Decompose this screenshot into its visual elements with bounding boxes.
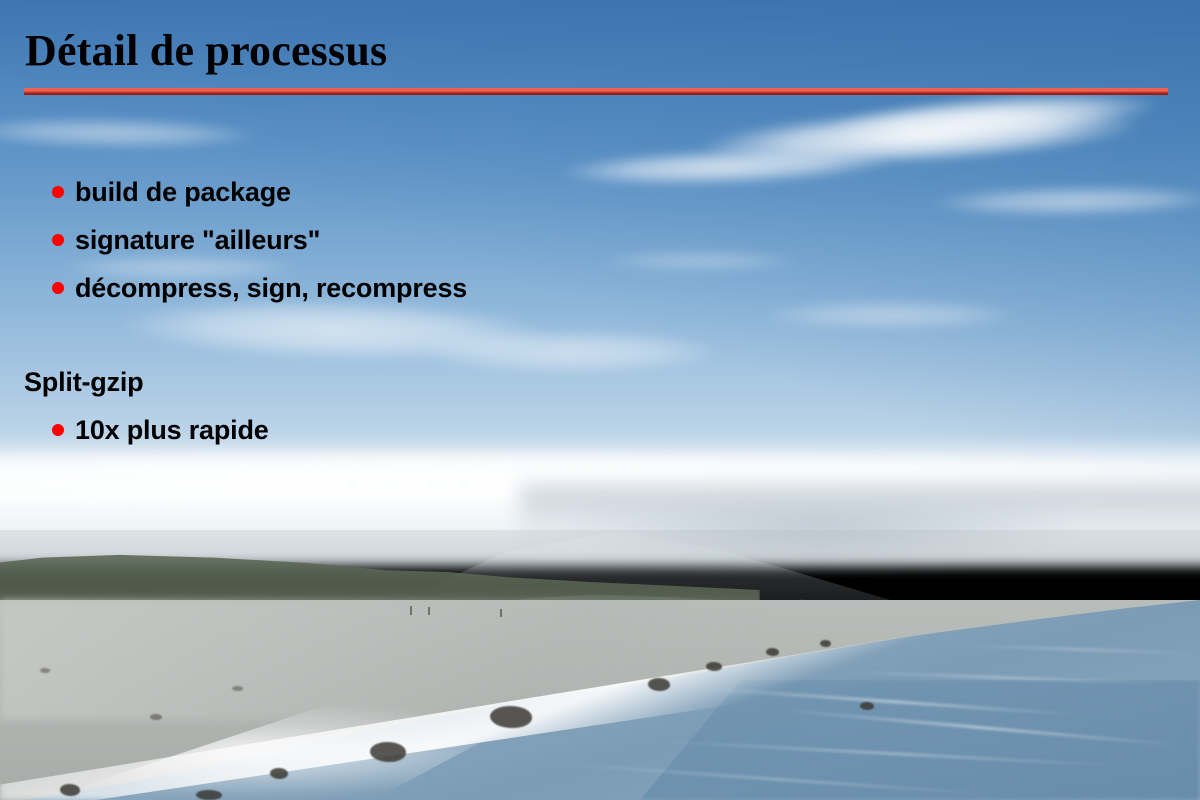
bullet-dot-icon — [52, 282, 64, 294]
presentation-slide: Détail de processus build de package sig… — [0, 0, 1200, 800]
bullet-dot-icon — [52, 186, 64, 198]
list-item-label: 10x plus rapide — [75, 415, 269, 446]
list-item-label: build de package — [75, 177, 291, 208]
page-title: Détail de processus — [25, 28, 387, 74]
bullet-dot-icon — [52, 424, 64, 436]
slide-content: Détail de processus build de package sig… — [0, 0, 1200, 800]
list-item: signature "ailleurs" — [0, 216, 1200, 264]
bullet-list: build de package signature "ailleurs" dé… — [0, 168, 1200, 454]
list-spacer — [0, 312, 1200, 358]
title-underline-rule — [24, 88, 1168, 95]
list-item-label: Split-gzip — [24, 367, 143, 398]
list-item: décompress, sign, recompress — [0, 264, 1200, 312]
list-item-label: décompress, sign, recompress — [75, 273, 467, 304]
list-item-heading: Split-gzip — [0, 358, 1200, 406]
list-item-label: signature "ailleurs" — [75, 225, 320, 256]
list-item: build de package — [0, 168, 1200, 216]
list-item: 10x plus rapide — [0, 406, 1200, 454]
bullet-dot-icon — [52, 234, 64, 246]
